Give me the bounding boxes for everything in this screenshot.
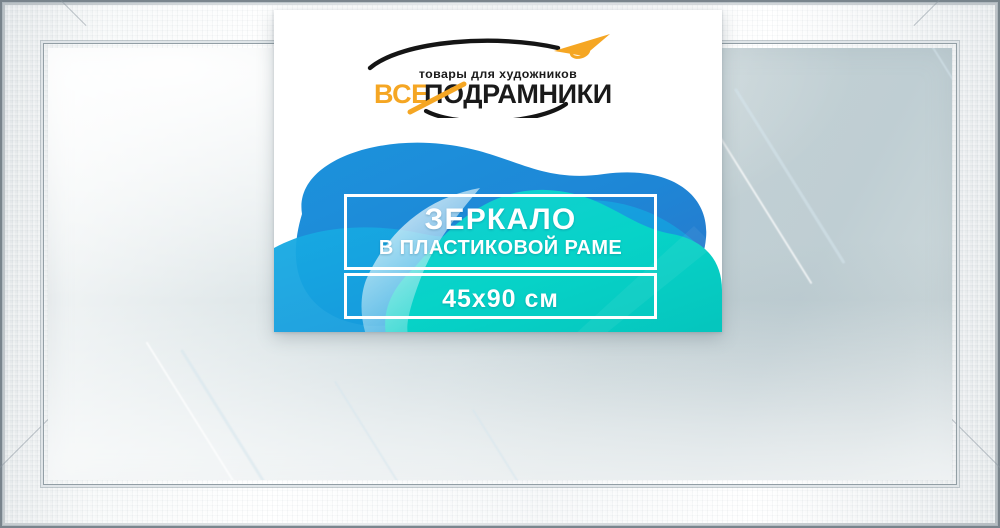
logo-swoosh-top: [370, 41, 558, 68]
brand-logo-graphic: товары для художников ВСЕ ПОДРАМНИКИ: [348, 32, 648, 118]
product-size: 45x90 см: [347, 285, 654, 314]
size-box: 45x90 см: [344, 273, 657, 319]
brand-logo: товары для художников ВСЕ ПОДРАМНИКИ: [274, 32, 722, 118]
product-subhead: В ПЛАСТИКОВОЙ РАМЕ: [347, 237, 654, 260]
product-label-card: товары для художников ВСЕ ПОДРАМНИКИ: [274, 10, 722, 332]
product-headline: ЗЕРКАЛО: [347, 203, 654, 237]
headline-box: ЗЕРКАЛО В ПЛАСТИКОВОЙ РАМЕ: [344, 194, 657, 270]
product-image: товары для художников ВСЕ ПОДРАМНИКИ: [0, 0, 1000, 528]
brand-name-part2: ПОДРАМНИКИ: [424, 79, 612, 109]
